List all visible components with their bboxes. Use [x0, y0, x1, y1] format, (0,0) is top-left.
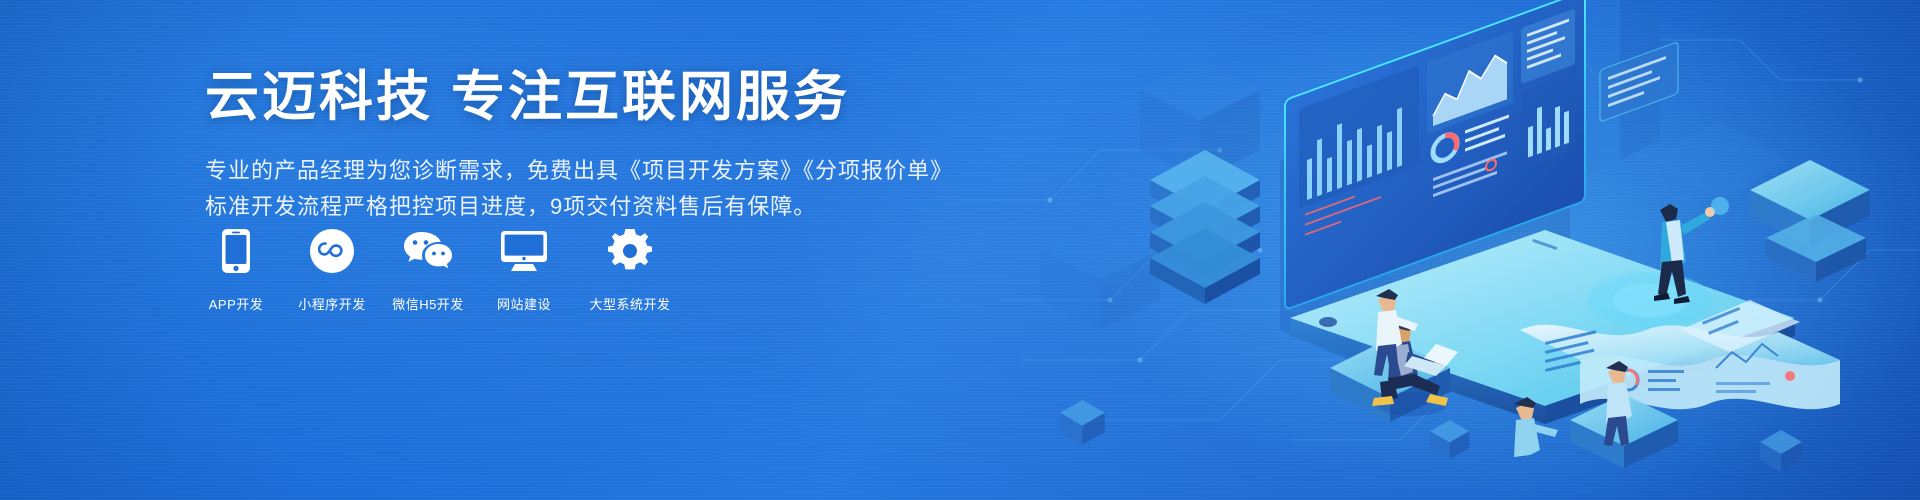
service-label: 大型系统开发 — [589, 294, 670, 313]
service-label: 网站建设 — [497, 294, 551, 313]
gear-icon — [608, 228, 652, 274]
service-item-wechat-h5[interactable]: 微信H5开发 — [392, 228, 464, 313]
service-icon-list: APP开发 小程序开发 微信 — [200, 228, 676, 313]
service-item-mini-program[interactable]: 小程序开发 — [296, 228, 368, 313]
service-item-app[interactable]: APP开发 — [200, 228, 272, 313]
isometric-data-platform-illustration — [960, 0, 1920, 500]
hero-banner: 云迈科技 专注互联网服务 专业的产品经理为您诊断需求，免费出具《项目开发方案》《… — [0, 0, 1920, 500]
service-label: 小程序开发 — [298, 294, 366, 313]
hero-copy: 云迈科技 专注互联网服务 专业的产品经理为您诊断需求，免费出具《项目开发方案》《… — [205, 68, 965, 225]
monitor-icon — [501, 228, 547, 274]
service-label: 微信H5开发 — [392, 294, 464, 313]
service-label: APP开发 — [209, 294, 264, 313]
wechat-icon — [403, 228, 453, 274]
service-item-large-system[interactable]: 大型系统开发 — [584, 228, 676, 313]
server-stack-cube — [1150, 150, 1260, 304]
mobile-phone-icon — [222, 228, 250, 274]
hero-subtitle-line-2: 标准开发流程严格把控项目进度，9项交付资料售后有保障。 — [205, 189, 965, 225]
page-title: 云迈科技 专注互联网服务 — [205, 68, 965, 127]
mini-program-icon — [310, 228, 354, 274]
service-item-website[interactable]: 网站建设 — [488, 228, 560, 313]
hero-subtitle-line-1: 专业的产品经理为您诊断需求，免费出具《项目开发方案》《分项报价单》 — [205, 153, 965, 189]
